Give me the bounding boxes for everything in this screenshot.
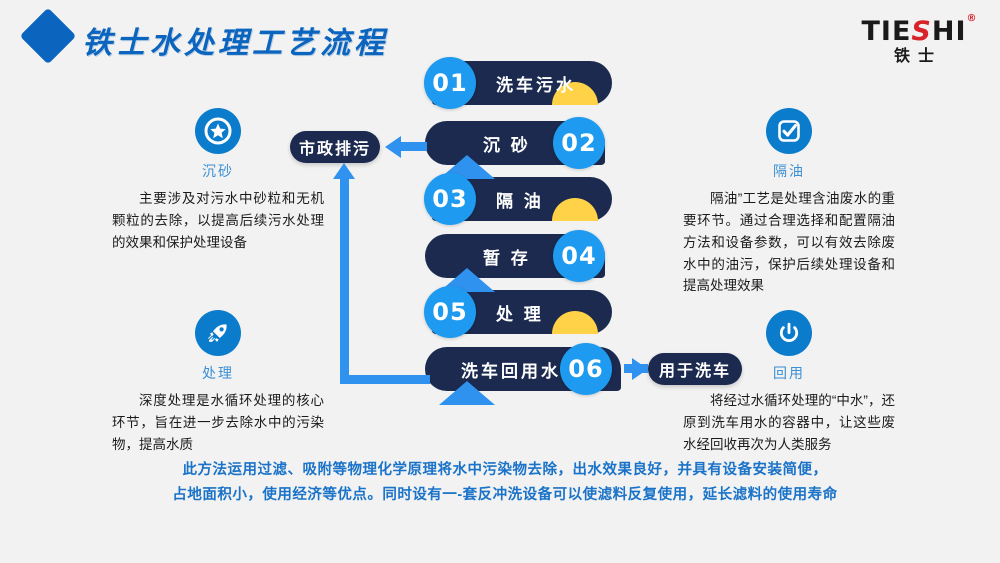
logo-word-part1: TIE (861, 16, 911, 47)
flow-step-03-number: 03 (424, 173, 476, 225)
flow-step-01-label: 洗车污水 (496, 71, 576, 96)
flow-step-05-number: 05 (424, 286, 476, 338)
accent-blue-triangle-06 (439, 381, 495, 405)
info-block-huiyong: 回用 将经过水循环处理的“中水”，还原到洗车用水的容器中，让这些废水经回收再次为… (683, 310, 895, 456)
logo-chinese-name: 铁士 (850, 49, 978, 65)
accent-yellow-half-05 (552, 311, 598, 334)
check-square-icon (766, 108, 812, 154)
flow-step-06-number: 06 (560, 343, 612, 395)
star-icon (195, 108, 241, 154)
info-block-chuli-body: 深度处理是水循环处理的核心环节，旨在进一步去除水中的污染物，提高水质 (112, 390, 324, 456)
arrow-to-discharge-shaft (399, 142, 427, 151)
info-block-chuli: 处理 深度处理是水循环处理的核心环节，旨在进一步去除水中的污染物，提高水质 (112, 310, 324, 456)
flow-step-03-label: 隔 油 (496, 187, 544, 212)
logo-wordmark: TIESHI® (861, 18, 966, 45)
page-title: 铁士水处理工艺流程 (82, 18, 388, 62)
footer-line-1: 此方法运用过滤、吸附等物理化学原理将水中污染物去除，出水效果良好，并具有设备安装… (110, 458, 900, 483)
arrow-to-discharge-head-icon (385, 136, 401, 158)
flow-step-06-label: 洗车回用水 (461, 357, 561, 382)
recycle-elbow-vertical (340, 178, 349, 384)
footer-note: 此方法运用过滤、吸附等物理化学原理将水中污染物去除，出水效果良好，并具有设备安装… (110, 458, 900, 508)
info-block-chuli-title: 处理 (112, 363, 324, 383)
flow-step-01-number: 01 (424, 57, 476, 109)
flow-step-02-number: 02 (553, 117, 605, 169)
rocket-icon (195, 310, 241, 356)
flow-step-02-label: 沉 砂 (483, 131, 531, 156)
info-block-chensha: 沉砂 主要涉及对污水中砂粒和无机颗粒的去除，以提高后续污水处理的效果和保护处理设… (112, 108, 324, 254)
info-block-chensha-body: 主要涉及对污水中砂粒和无机颗粒的去除，以提高后续污水处理的效果和保护处理设备 (112, 188, 324, 254)
info-block-geyou-body: 隔油”工艺是处理含油废水的重要环节。通过合理选择和配置隔油方法和设备参数，可以有… (683, 188, 895, 297)
flow-step-05-label: 处 理 (496, 300, 544, 325)
brand-logo: TIESHI® 铁士 (850, 18, 978, 65)
info-block-huiyong-title: 回用 (683, 363, 895, 383)
flow-step-04-label: 暂 存 (483, 244, 531, 269)
info-block-huiyong-body: 将经过水循环处理的“中水”，还原到洗车用水的容器中，让这些废水经回收再次为人类服… (683, 390, 895, 456)
info-block-chensha-title: 沉砂 (112, 161, 324, 181)
logo-word-part2: HI (932, 16, 967, 47)
registered-trademark-icon: ® (967, 14, 978, 24)
logo-word-s: S (911, 16, 931, 47)
flow-step-04-number: 04 (553, 230, 605, 282)
arrow-to-reuse-head-icon (632, 358, 648, 380)
info-block-geyou: 隔油 隔油”工艺是处理含油废水的重要环节。通过合理选择和配置隔油方法和设备参数，… (683, 108, 895, 297)
footer-line-2: 占地面积小，使用经济等优点。同时设有一-套反冲洗设备可以使滤料反复使用，延长滤料… (110, 483, 900, 508)
recycle-elbow-head-icon (333, 163, 355, 179)
recycle-elbow-horizontal (340, 375, 430, 384)
slide-canvas: 铁士水处理工艺流程 TIESHI® 铁士 洗车污水 01 沉 砂 02 隔 油 … (0, 0, 1000, 563)
accent-yellow-half-03 (552, 198, 598, 221)
power-icon (766, 310, 812, 356)
info-block-geyou-title: 隔油 (683, 161, 895, 181)
diamond-icon (20, 8, 77, 65)
